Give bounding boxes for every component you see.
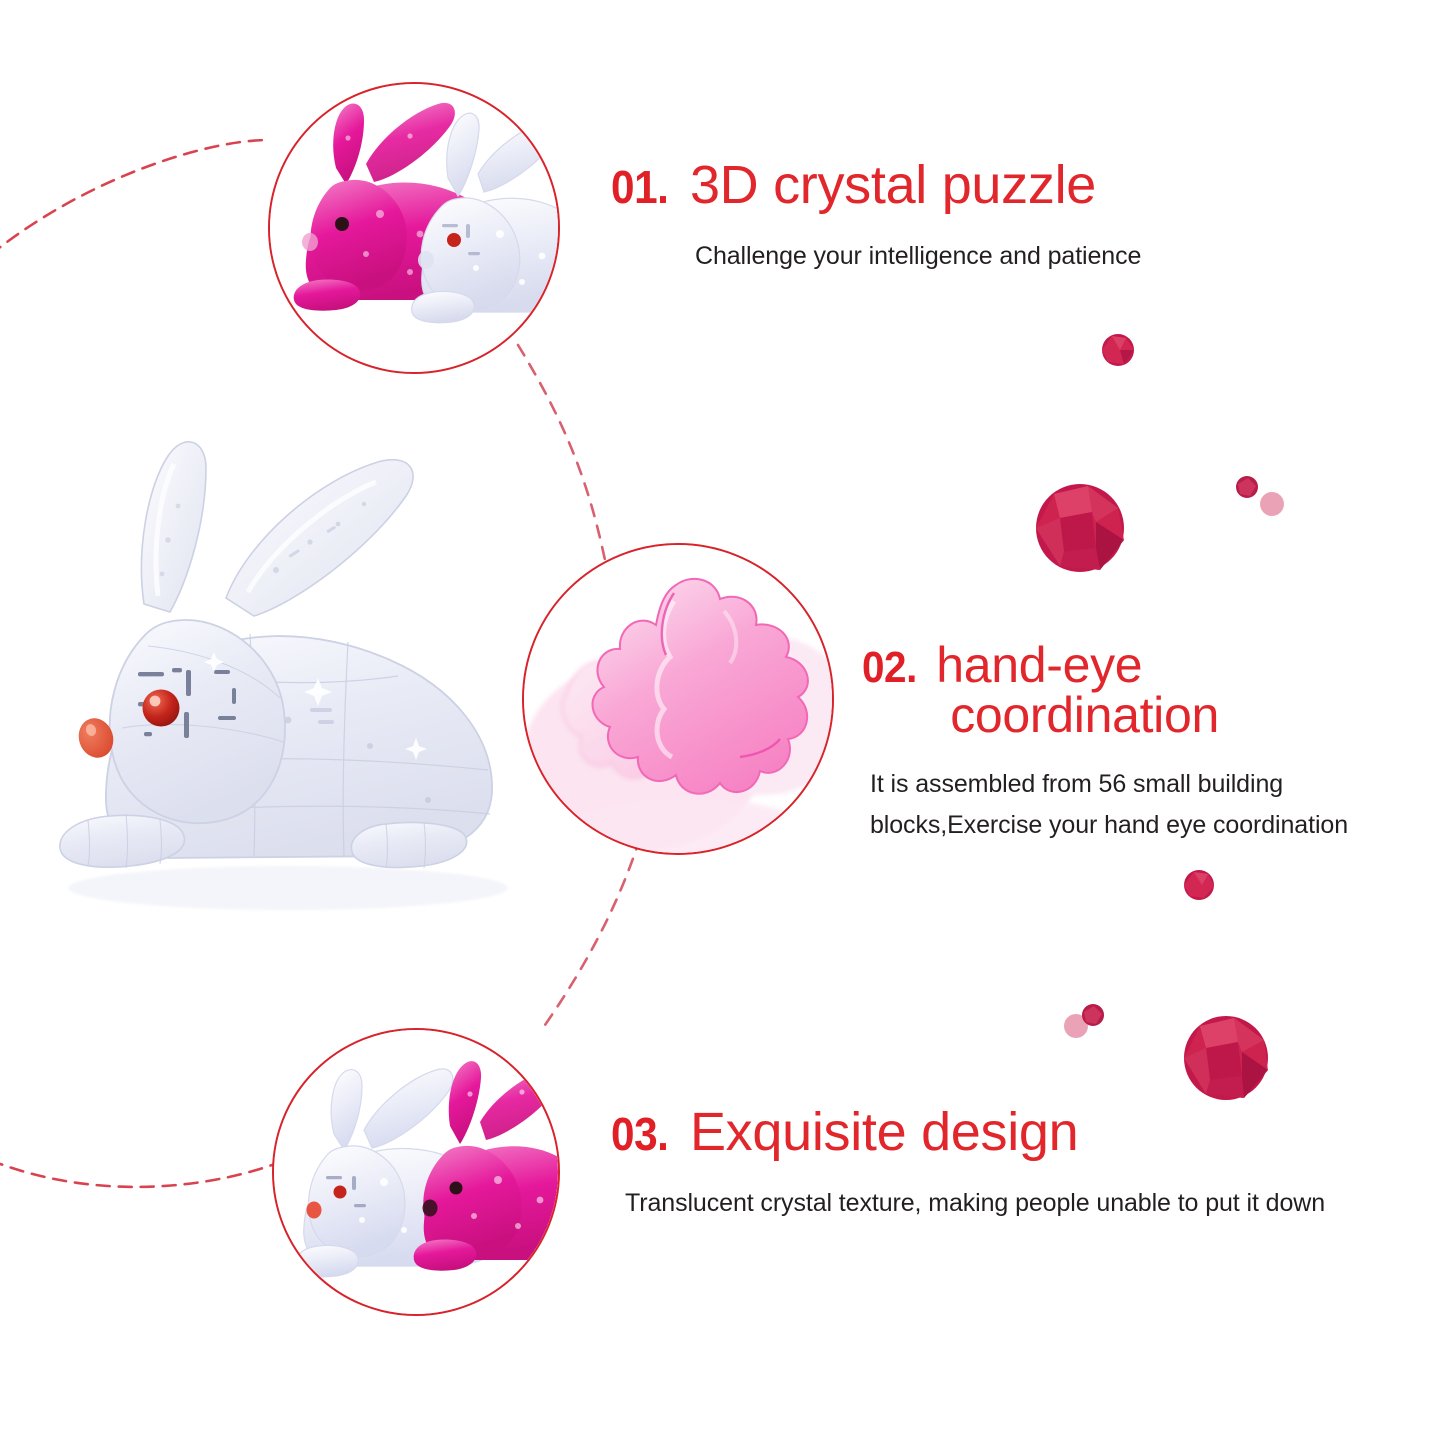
feature-3-title: Exquisite design [690, 1105, 1078, 1159]
feature-2-title-line2: coordination [950, 690, 1219, 740]
feature-2-heading: 02. hand-eye coordination [862, 640, 1382, 740]
circle-3-photo [274, 1030, 558, 1314]
feature-1-number: 01. [611, 160, 669, 214]
feature-1-description: Challenge your intelligence and patience [695, 236, 1311, 277]
circle-1-photo [270, 84, 558, 372]
small-crimson-sphere-mid-icon [1176, 862, 1222, 908]
tiny-crimson-dot-lower-icon [1078, 1000, 1108, 1030]
large-crimson-sphere-lower-icon [1178, 1010, 1274, 1106]
large-crimson-sphere-upper-icon [1030, 478, 1130, 578]
feature-2-description: It is assembled from 56 small building b… [870, 764, 1370, 845]
feature-block-2: 02. hand-eye coordination It is assemble… [862, 640, 1382, 845]
hero-crystal-rabbit-image [18, 420, 538, 940]
infographic-canvas: 01. 3D crystal puzzle Challenge your int… [0, 0, 1445, 1445]
feature-1-heading: 01. 3D crystal puzzle [611, 158, 1311, 214]
feature-block-3: 03. Exquisite design Translucent crystal… [611, 1105, 1351, 1224]
tiny-crimson-dot-upper-icon [1232, 472, 1262, 502]
small-crimson-sphere-top-icon [1090, 322, 1146, 378]
circle-2-photo [524, 545, 832, 853]
feature-3-number: 03. [611, 1107, 669, 1161]
arc-circle2-to-circle3 [545, 838, 640, 1025]
outer-arc-lower [0, 1160, 272, 1187]
feature-2-title: hand-eye coordination [936, 640, 1219, 740]
feature-1-title: 3D crystal puzzle [690, 158, 1096, 212]
feature-3-heading: 03. Exquisite design [611, 1105, 1351, 1161]
feature-2-title-line1: hand-eye [936, 637, 1142, 693]
tiny-pink-dot-upper-icon [1256, 488, 1288, 520]
feature-block-1: 01. 3D crystal puzzle Challenge your int… [611, 158, 1311, 277]
feature-3-description: Translucent crystal texture, making peop… [625, 1183, 1335, 1224]
feature-2-number: 02. [862, 643, 917, 693]
tiny-pink-dot-lower-icon [1060, 1010, 1092, 1042]
rabbit-eye [143, 690, 180, 727]
feature-image-circle-1 [268, 82, 560, 374]
feature-image-circle-3 [272, 1028, 560, 1316]
feature-image-circle-2 [522, 543, 834, 855]
outer-arc-upper [0, 140, 268, 255]
